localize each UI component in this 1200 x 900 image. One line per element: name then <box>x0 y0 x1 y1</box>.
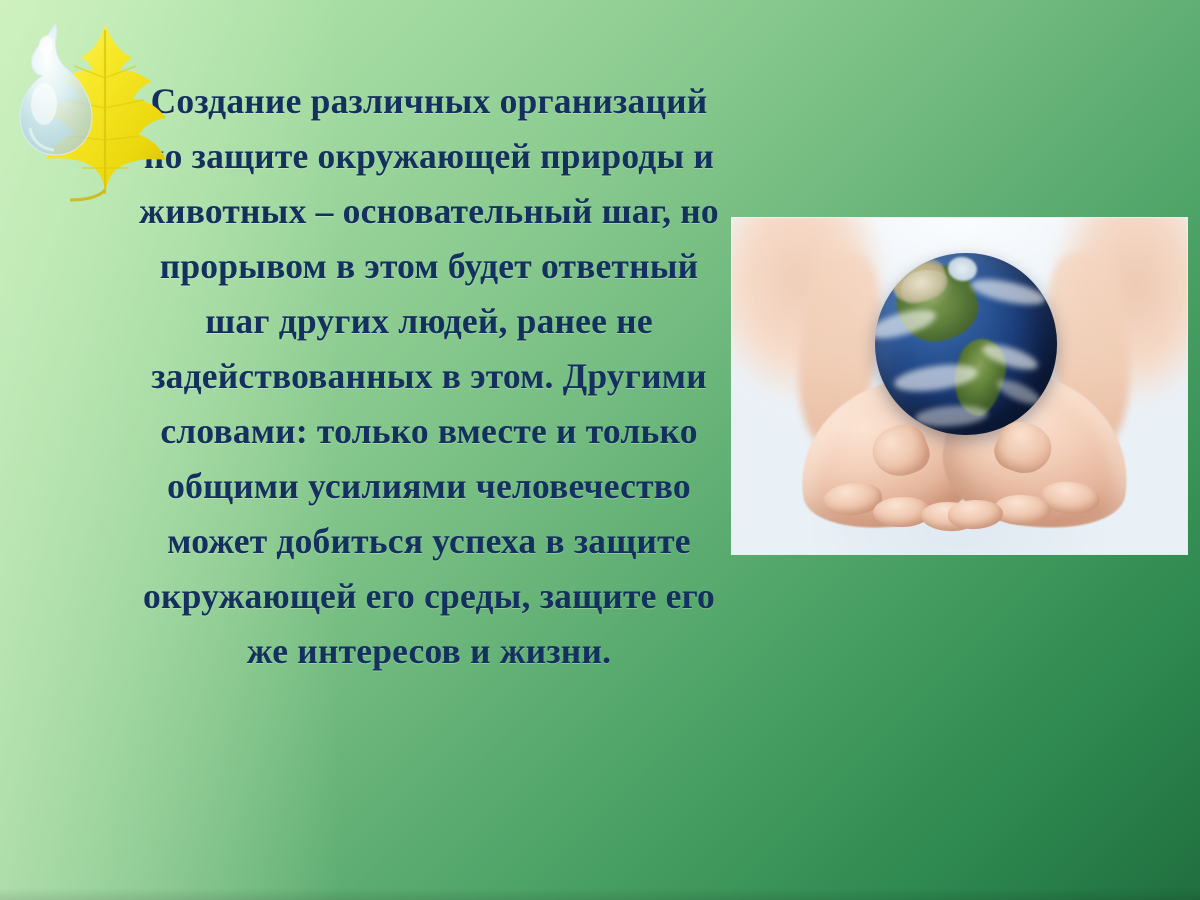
text-line: может добиться успеха в защите <box>34 514 824 569</box>
text-line: задействованных в этом. Другими <box>34 349 824 404</box>
text-line: Создание различных организаций <box>34 74 824 129</box>
text-line: словами: только вместе и только <box>34 404 824 459</box>
text-line: по защите окружающей природы и <box>34 129 824 184</box>
text-line: же интересов и жизни. <box>34 624 824 679</box>
text-line: окружающей его среды, защите его <box>34 569 824 624</box>
cloud-band <box>915 403 989 428</box>
text-line: животных – основательный шаг, но <box>34 184 824 239</box>
text-line: шаг других людей, ранее не <box>34 294 824 349</box>
presentation-slide: Создание различных организаций по защите… <box>0 0 1200 900</box>
text-line: прорывом в этом будет ответный <box>34 239 824 294</box>
cloud-band <box>994 375 1044 409</box>
earth-globe-icon <box>875 253 1057 434</box>
globe-highlight <box>901 270 956 310</box>
slide-body-text: Создание различных организаций по защите… <box>34 74 824 679</box>
text-line: общими усилиями человечество <box>34 459 824 514</box>
